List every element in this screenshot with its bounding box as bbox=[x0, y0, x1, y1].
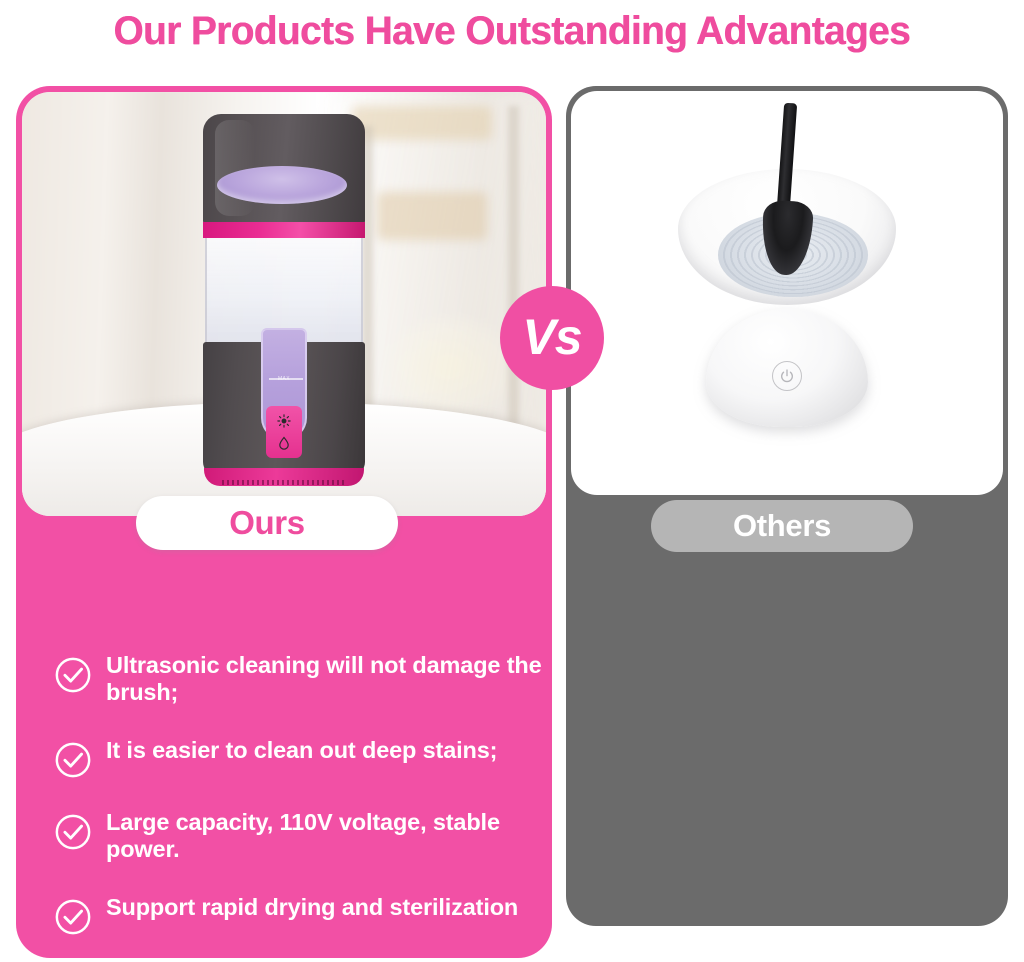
check-circle-icon bbox=[54, 898, 92, 936]
list-item: Ultrasonic cleaning will not damage the … bbox=[54, 652, 550, 707]
power-button[interactable] bbox=[772, 361, 802, 391]
device-pink-trim-band bbox=[203, 222, 365, 238]
page-title: Our Products Have Outstanding Advantages bbox=[114, 9, 911, 54]
spinning-bowl-cleaner-device bbox=[672, 139, 902, 439]
device-max-marking: MAX bbox=[278, 376, 290, 382]
ultrasonic-cleaner-device: MAX bbox=[203, 114, 365, 492]
ours-label-text: Ours bbox=[229, 504, 304, 542]
list-item-label: It is easier to clean out deep stains; bbox=[106, 737, 497, 764]
photo-shelf-upper bbox=[352, 106, 492, 140]
check-circle-icon bbox=[54, 813, 92, 851]
ours-label-pill: Ours bbox=[136, 496, 398, 550]
others-label-text: Others bbox=[733, 508, 831, 544]
device-base bbox=[706, 309, 868, 427]
list-item-label: Support rapid drying and sterilization bbox=[106, 894, 518, 921]
vs-label: Vs bbox=[522, 308, 581, 366]
check-circle-icon bbox=[54, 741, 92, 779]
list-item: Large capacity, 110V voltage, stable pow… bbox=[54, 809, 550, 864]
list-item-label: Ultrasonic cleaning will not damage the … bbox=[106, 652, 550, 707]
photo-stand-leg-right bbox=[508, 106, 519, 426]
device-base-trim bbox=[204, 468, 364, 486]
photo-shelf-lower bbox=[377, 192, 487, 240]
device-inner-disc bbox=[217, 166, 347, 204]
page-title-bar: Our Products Have Outstanding Advantages bbox=[0, 0, 1024, 62]
sun-icon bbox=[277, 414, 291, 428]
ours-feature-list: Ultrasonic cleaning will not damage the … bbox=[54, 652, 550, 936]
ours-product-photo: MAX bbox=[22, 92, 546, 516]
list-item: It is easier to clean out deep stains; bbox=[54, 737, 550, 779]
check-circle-icon bbox=[54, 656, 92, 694]
others-product-photo bbox=[571, 91, 1003, 495]
list-item: Support rapid drying and sterilization bbox=[54, 894, 550, 936]
others-label-pill: Others bbox=[651, 500, 913, 552]
list-item-label: Large capacity, 110V voltage, stable pow… bbox=[106, 809, 550, 864]
power-icon bbox=[779, 368, 795, 384]
water-drop-icon bbox=[277, 436, 291, 450]
vs-badge: Vs bbox=[500, 286, 604, 390]
device-control-panel[interactable] bbox=[266, 406, 302, 458]
